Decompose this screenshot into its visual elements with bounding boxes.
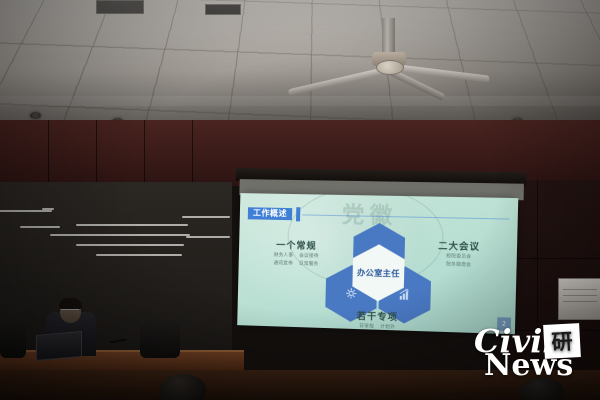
hexagon-center-label: 办公室主任 [357, 267, 400, 279]
glass-reflection [96, 254, 182, 256]
slide-page-number: 2 [497, 317, 511, 331]
presenter-hair [59, 298, 82, 309]
branch-sub: 通讯宣传 [273, 261, 292, 268]
branch-title: 一个常规 [257, 238, 336, 253]
branch-sub: 计划外 [380, 325, 395, 332]
slide-title-badge: 工作概述 [248, 207, 293, 220]
glass-reflection [50, 234, 190, 236]
panel-seam [96, 120, 97, 186]
laptop [36, 331, 82, 361]
panel-seam [192, 120, 193, 186]
foreground-head [520, 378, 564, 400]
ceiling [0, 0, 600, 128]
branch-sub: 财务人事 [274, 253, 293, 260]
branch-title: 二大会议 [418, 238, 500, 253]
panel-seam [537, 180, 538, 400]
glass-reflection [42, 208, 54, 210]
panel-seam [144, 120, 145, 186]
chair-left [0, 320, 26, 358]
front-desk [0, 370, 600, 400]
screenshot-root: 党徽 工作概述 [0, 0, 600, 400]
ceiling-shading [0, 0, 600, 128]
wall-ac-unit [558, 278, 600, 320]
panel-seam [48, 120, 49, 186]
glass-reflection [76, 244, 184, 246]
presentation-slide: 党徽 工作概述 [237, 193, 518, 334]
projection-screen: 党徽 工作概述 [232, 168, 526, 344]
branch-label-right: 二大会议 校院委员会 院务联席会 [418, 238, 500, 270]
branch-sub: 日常服务 [299, 262, 319, 269]
glass-reflection [76, 224, 188, 226]
branch-label-left: 一个常规 财务人事 会议接待 通讯宣传 日常服务 [257, 238, 337, 269]
branch-sub: 校院委员会 [446, 254, 471, 261]
branch-title: 若干专项 [324, 308, 431, 325]
chair-right [140, 320, 180, 358]
glass-reflection [182, 216, 230, 218]
foreground-head [160, 374, 206, 400]
branch-label-bottom: 若干专项 日常规 计划外 [324, 308, 432, 333]
glass-reflection [186, 236, 230, 238]
presenter-glasses [61, 309, 79, 314]
branch-sub: 院务联席会 [446, 262, 471, 269]
branch-sub: 日常规 [359, 324, 374, 331]
glass-reflection [0, 210, 52, 212]
slide-title-accent-bar [296, 207, 300, 221]
branch-sub: 会议接待 [299, 254, 319, 261]
glass-reflection [20, 226, 60, 228]
